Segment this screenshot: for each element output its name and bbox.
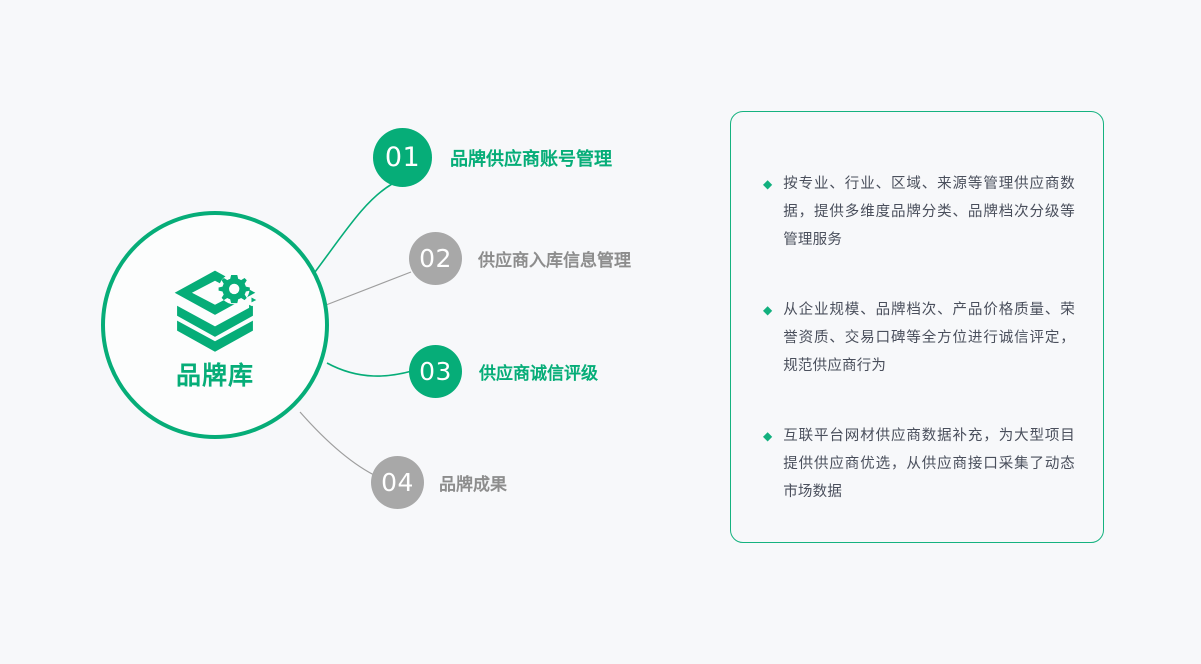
diamond-bullet-icon: ◆ — [763, 422, 772, 450]
info-bullet-1-text: 按专业、行业、区域、来源等管理供应商数据，提供多维度品牌分类、品牌档次分级等管理… — [783, 170, 1075, 254]
info-panel: ◆ 按专业、行业、区域、来源等管理供应商数据，提供多维度品牌分类、品牌档次分级等… — [730, 111, 1104, 543]
hub-circle[interactable]: 品牌库 — [101, 211, 329, 439]
node-03[interactable]: 03 供应商诚信评级 — [409, 345, 598, 398]
node-01-label[interactable]: 品牌供应商账号管理 — [450, 145, 612, 171]
info-bullet-1: ◆ 按专业、行业、区域、来源等管理供应商数据，提供多维度品牌分类、品牌档次分级等… — [763, 170, 1075, 254]
node-04-badge[interactable]: 04 — [371, 456, 424, 509]
info-bullet-2-text: 从企业规模、品牌档次、产品价格质量、荣誉资质、交易口碑等全方位进行诚信评定，规范… — [783, 296, 1075, 380]
diamond-bullet-icon: ◆ — [763, 296, 772, 324]
info-bullet-3-text: 互联平台网材供应商数据补充，为大型项目提供供应商优选，从供应商接口采集了动态市场… — [783, 422, 1075, 506]
connector-line-02 — [326, 272, 411, 305]
connector-line-01 — [315, 184, 392, 272]
hub-label: 品牌库 — [176, 363, 254, 388]
node-02-badge[interactable]: 02 — [409, 232, 462, 285]
node-01[interactable]: 01 品牌供应商账号管理 — [373, 128, 612, 187]
info-bullet-3: ◆ 互联平台网材供应商数据补充，为大型项目提供供应商优选，从供应商接口采集了动态… — [763, 422, 1075, 506]
diamond-bullet-icon: ◆ — [763, 170, 772, 198]
node-03-label[interactable]: 供应商诚信评级 — [479, 359, 598, 384]
node-01-badge[interactable]: 01 — [373, 128, 432, 187]
node-04[interactable]: 04 品牌成果 — [371, 456, 507, 509]
layers-gear-icon — [167, 263, 263, 359]
info-bullet-2: ◆ 从企业规模、品牌档次、产品价格质量、荣誉资质、交易口碑等全方位进行诚信评定，… — [763, 296, 1075, 380]
node-02[interactable]: 02 供应商入库信息管理 — [409, 232, 631, 285]
connector-line-03 — [327, 363, 412, 376]
node-04-label[interactable]: 品牌成果 — [439, 470, 507, 495]
node-03-badge[interactable]: 03 — [409, 345, 462, 398]
connector-line-04 — [300, 412, 378, 477]
node-02-label[interactable]: 供应商入库信息管理 — [478, 246, 631, 271]
infographic-canvas: 品牌库 01 品牌供应商账号管理 02 供应商入库信息管理 03 供应商诚信评级… — [0, 0, 1201, 664]
